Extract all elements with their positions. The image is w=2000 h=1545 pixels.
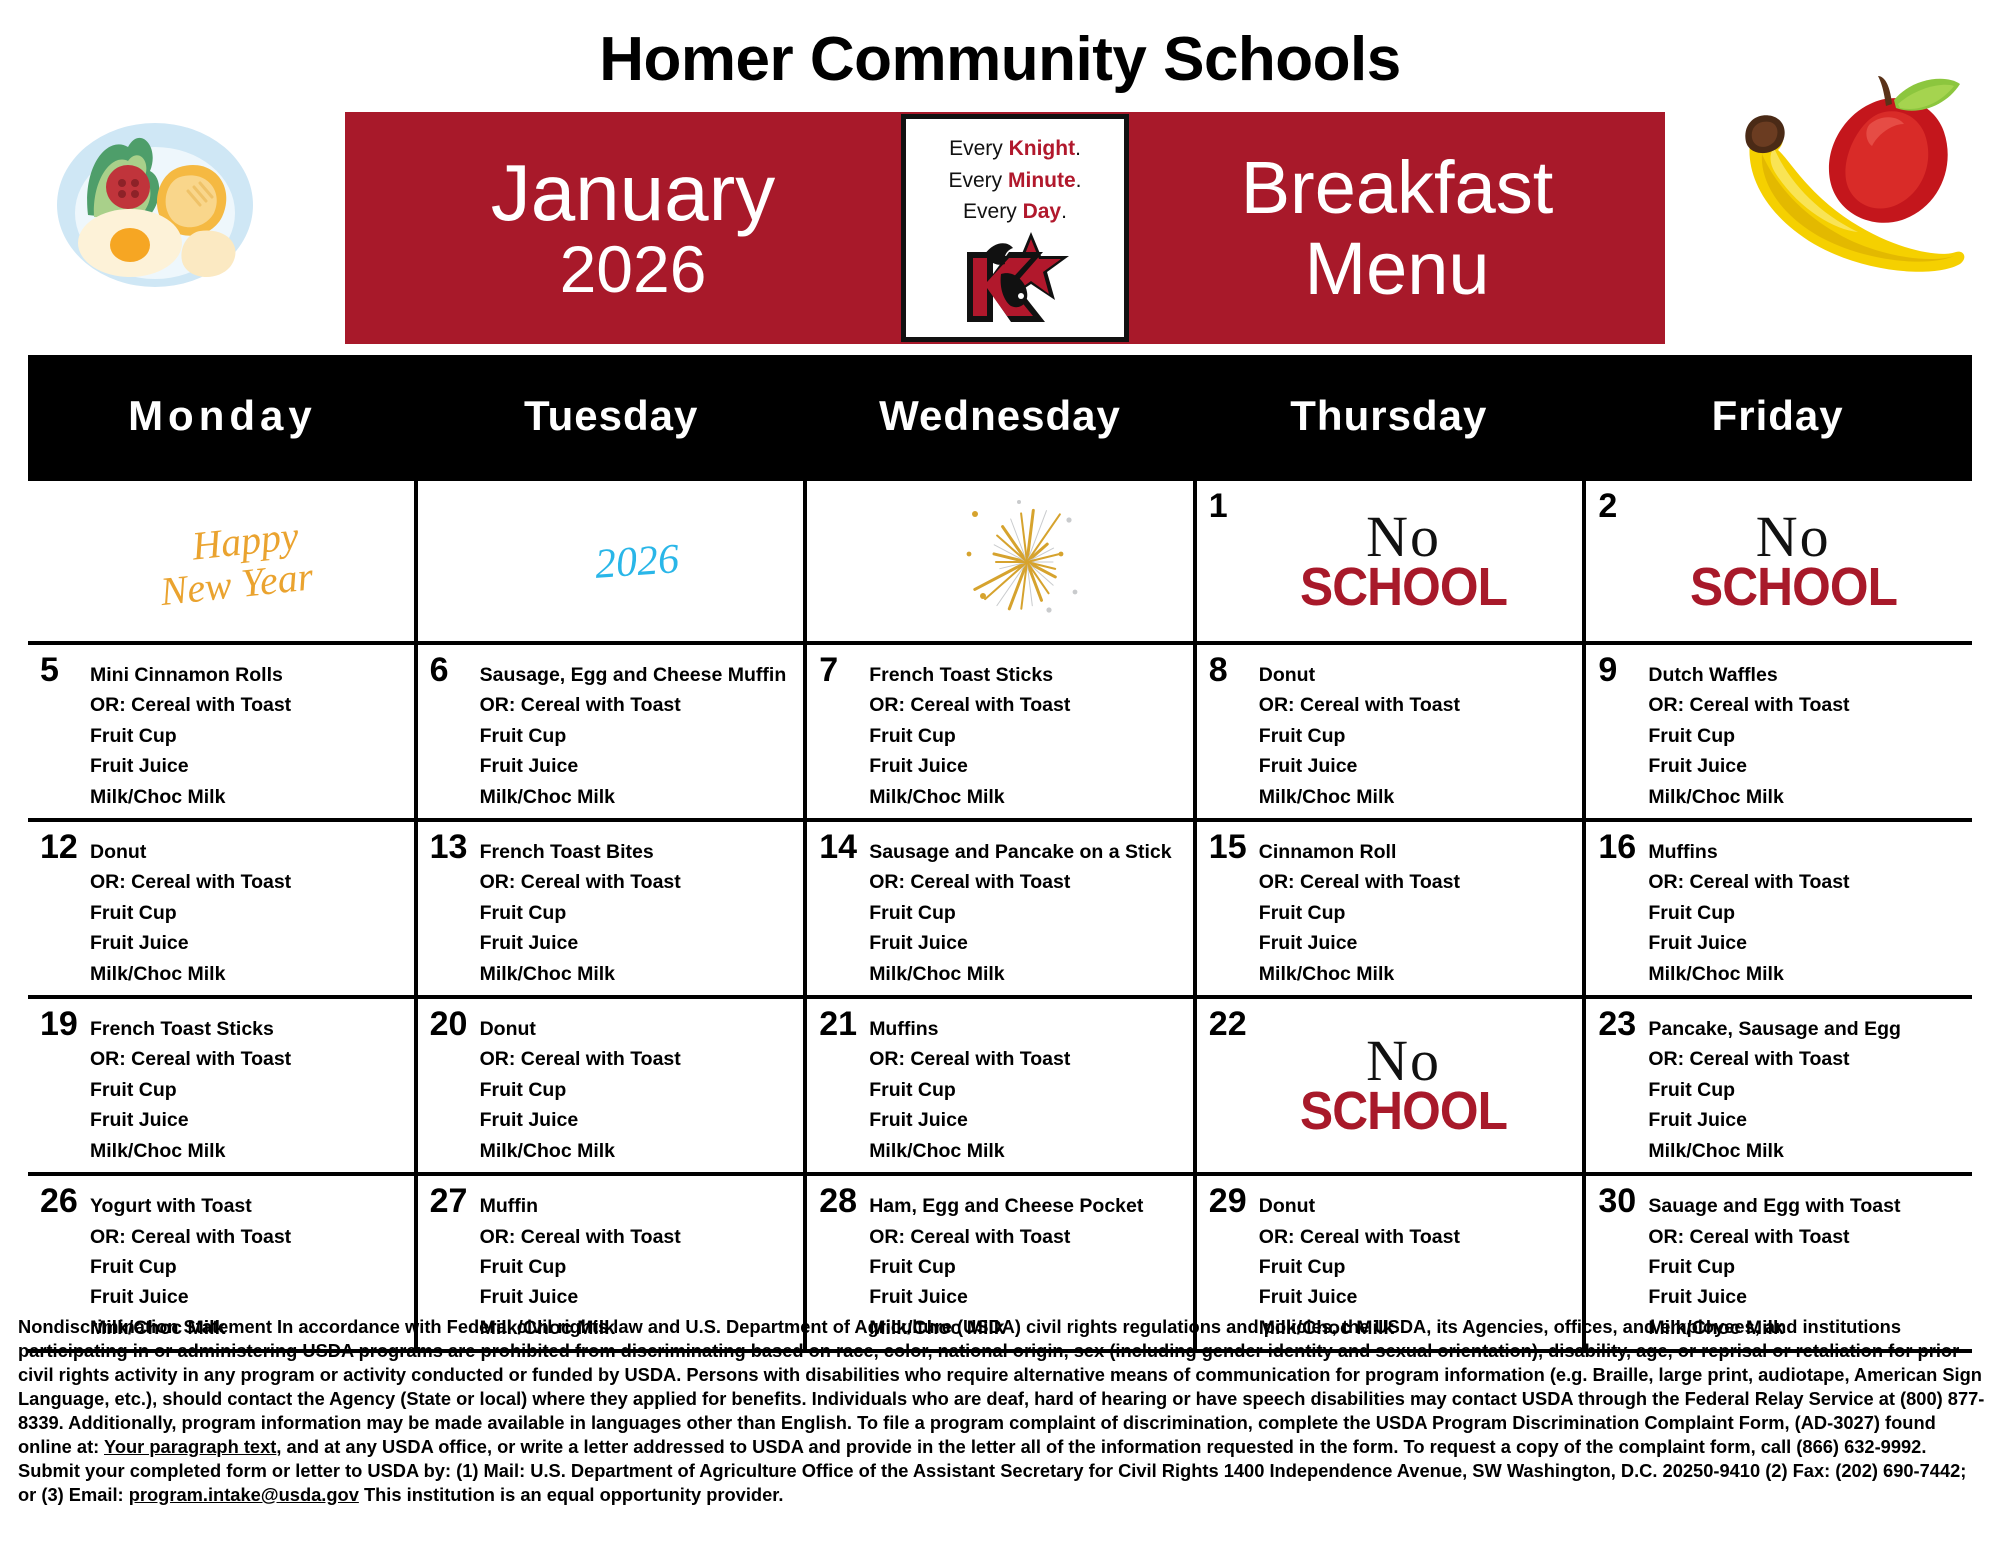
calendar-cell-menu: 15Cinnamon RollOR: Cereal with ToastFrui… <box>1197 822 1583 995</box>
footer-text-part3: This institution is an equal opportunity… <box>359 1484 784 1505</box>
menu-side: OR: Cereal with Toast <box>90 1222 408 1252</box>
day-number: 6 <box>426 653 478 812</box>
day-number: 22 <box>1205 1007 1257 1166</box>
menu-item-list: French Toast BitesOR: Cereal with ToastF… <box>478 830 798 989</box>
menu-side: OR: Cereal with Toast <box>1259 867 1577 897</box>
logo-line2-suffix: . <box>1076 169 1082 192</box>
logo-line2-prefix: Every <box>948 169 1008 192</box>
calendar-cell-decoration: 2026 <box>418 481 804 641</box>
menu-side: OR: Cereal with Toast <box>1259 690 1577 720</box>
menu-item-list: Mini Cinnamon RollsOR: Cereal with Toast… <box>88 653 408 812</box>
no-school-line2: SCHOOL <box>1300 1086 1507 1137</box>
menu-entree: Sausage and Pancake on a Stick <box>869 837 1187 867</box>
calendar-cell-menu: 12DonutOR: Cereal with ToastFruit CupFru… <box>28 822 414 995</box>
no-school-badge: NoSCHOOL <box>1257 1007 1577 1166</box>
calendar-cell-menu: 19French Toast SticksOR: Cereal with Toa… <box>28 999 414 1172</box>
day-number: 14 <box>815 830 867 989</box>
menu-side: Fruit Cup <box>869 1075 1187 1105</box>
menu-side: Fruit Cup <box>869 898 1187 928</box>
menu-side: Fruit Juice <box>480 751 798 781</box>
weekday-header-thursday: Thursday <box>1194 392 1583 440</box>
no-school-badge: NoSCHOOL <box>1646 489 1966 635</box>
day-number: 13 <box>426 830 478 989</box>
menu-entree: Muffins <box>869 1014 1187 1044</box>
weekday-header-friday: Friday <box>1583 392 1972 440</box>
calendar-cell-no-school: 1NoSCHOOL <box>1197 481 1583 641</box>
banner-meal-line1: Breakfast <box>1129 147 1665 228</box>
menu-side: OR: Cereal with Toast <box>90 1044 408 1074</box>
menu-side: Fruit Cup <box>1648 898 1966 928</box>
menu-item-list: Pancake, Sausage and EggOR: Cereal with … <box>1646 1007 1966 1166</box>
school-logo: Every Knight. Every Minute. Every Day. <box>901 114 1129 342</box>
day-number: 2 <box>1594 489 1646 635</box>
menu-item-list: Sausage, Egg and Cheese MuffinOR: Cereal… <box>478 653 798 812</box>
menu-side: Fruit Cup <box>480 721 798 751</box>
calendar-week-row: 19French Toast SticksOR: Cereal with Toa… <box>28 999 1972 1176</box>
logo-tagline-3: Every Day. <box>963 196 1067 228</box>
day-number: 16 <box>1594 830 1646 989</box>
menu-side: Milk/Choc Milk <box>480 1136 798 1166</box>
banner-month-year: January 2026 <box>345 151 901 304</box>
menu-side: Fruit Juice <box>1259 1282 1577 1312</box>
menu-item-list: DonutOR: Cereal with ToastFruit CupFruit… <box>478 1007 798 1166</box>
menu-entree: Donut <box>480 1014 798 1044</box>
menu-item-list: French Toast SticksOR: Cereal with Toast… <box>867 653 1187 812</box>
menu-side: Fruit Cup <box>1648 1252 1966 1282</box>
logo-line3-accent: Day <box>1023 200 1062 223</box>
menu-side: OR: Cereal with Toast <box>1648 1044 1966 1074</box>
menu-side: Milk/Choc Milk <box>1259 782 1577 812</box>
calendar-cell-menu: 20DonutOR: Cereal with ToastFruit CupFru… <box>418 999 804 1172</box>
menu-entree: French Toast Sticks <box>90 1014 408 1044</box>
menu-item-list: Dutch WafflesOR: Cereal with ToastFruit … <box>1646 653 1966 812</box>
menu-side: OR: Cereal with Toast <box>480 867 798 897</box>
menu-side: OR: Cereal with Toast <box>480 1222 798 1252</box>
menu-side: Milk/Choc Milk <box>1648 1136 1966 1166</box>
day-number: 5 <box>36 653 88 812</box>
menu-item-list: Sausage and Pancake on a StickOR: Cereal… <box>867 830 1187 989</box>
menu-entree: French Toast Bites <box>480 837 798 867</box>
day-number: 7 <box>815 653 867 812</box>
menu-side: Milk/Choc Milk <box>869 959 1187 989</box>
menu-side: Fruit Cup <box>90 1075 408 1105</box>
menu-entree: Cinnamon Roll <box>1259 837 1577 867</box>
menu-calendar: Monday Tuesday Wednesday Thursday Friday… <box>28 355 1972 1353</box>
menu-item-list: Cinnamon RollOR: Cereal with ToastFruit … <box>1257 830 1577 989</box>
fireworks-icon <box>867 489 1187 635</box>
logo-line3-suffix: . <box>1061 200 1067 223</box>
logo-line1-suffix: . <box>1075 137 1081 160</box>
menu-entree: Donut <box>1259 660 1577 690</box>
menu-side: OR: Cereal with Toast <box>869 867 1187 897</box>
menu-side: Milk/Choc Milk <box>1648 959 1966 989</box>
menu-side: Milk/Choc Milk <box>90 959 408 989</box>
day-number: 8 <box>1205 653 1257 812</box>
menu-side: OR: Cereal with Toast <box>480 690 798 720</box>
menu-entree: Donut <box>90 837 408 867</box>
menu-side: Fruit Juice <box>480 1282 798 1312</box>
menu-entree: Muffins <box>1648 837 1966 867</box>
menu-side: Fruit Juice <box>1259 751 1577 781</box>
menu-side: OR: Cereal with Toast <box>869 1044 1187 1074</box>
banner-year-label: 2026 <box>365 235 901 304</box>
menu-side: Fruit Juice <box>869 928 1187 958</box>
menu-side: Milk/Choc Milk <box>90 1136 408 1166</box>
no-school-line1: No <box>1756 511 1831 562</box>
menu-entree: Dutch Waffles <box>1648 660 1966 690</box>
menu-side: Fruit Juice <box>480 1105 798 1135</box>
menu-side: Fruit Cup <box>90 898 408 928</box>
menu-side: Fruit Juice <box>1648 1282 1966 1312</box>
menu-entree: Sausage, Egg and Cheese Muffin <box>480 660 798 690</box>
day-number: 1 <box>1205 489 1257 635</box>
calendar-cell-menu: 7French Toast SticksOR: Cereal with Toas… <box>807 645 1193 818</box>
page-header: Homer Community Schools January 2026 Eve… <box>0 0 2000 360</box>
logo-line1-prefix: Every <box>949 137 1009 160</box>
menu-side: Fruit Juice <box>869 751 1187 781</box>
menu-entree: Ham, Egg and Cheese Pocket <box>869 1191 1187 1221</box>
banner-month-label: January <box>365 151 901 235</box>
calendar-week-row: 5Mini Cinnamon RollsOR: Cereal with Toas… <box>28 645 1972 822</box>
day-number: 23 <box>1594 1007 1646 1166</box>
menu-item-list: MuffinsOR: Cereal with ToastFruit CupFru… <box>867 1007 1187 1166</box>
menu-side: Fruit Cup <box>480 898 798 928</box>
knight-k-logo-icon <box>949 230 1081 326</box>
calendar-cell-menu: 16MuffinsOR: Cereal with ToastFruit CupF… <box>1586 822 1972 995</box>
menu-side: Milk/Choc Milk <box>869 1136 1187 1166</box>
day-number: 20 <box>426 1007 478 1166</box>
menu-side: Fruit Juice <box>1648 1105 1966 1135</box>
menu-entree: Pancake, Sausage and Egg <box>1648 1014 1966 1044</box>
menu-side: Fruit Juice <box>1648 928 1966 958</box>
menu-side: Fruit Cup <box>1648 1075 1966 1105</box>
calendar-cell-menu: 8DonutOR: Cereal with ToastFruit CupFrui… <box>1197 645 1583 818</box>
menu-entree: Sauage and Egg with Toast <box>1648 1191 1966 1221</box>
year-script-art: 2026 <box>478 489 798 635</box>
nondiscrimination-statement: Nondiscrimination Statement In accordanc… <box>18 1315 1986 1507</box>
calendar-week-row: HappyNew Year20261NoSCHOOL2NoSCHOOL <box>28 477 1972 645</box>
menu-side: Fruit Juice <box>869 1282 1187 1312</box>
page-title: Homer Community Schools <box>0 24 2000 95</box>
menu-side: Milk/Choc Milk <box>869 782 1187 812</box>
menu-side: OR: Cereal with Toast <box>1259 1222 1577 1252</box>
calendar-cell-menu: 23Pancake, Sausage and EggOR: Cereal wit… <box>1586 999 1972 1172</box>
menu-side: Milk/Choc Milk <box>480 959 798 989</box>
menu-side: Fruit Juice <box>1259 928 1577 958</box>
day-number: 12 <box>36 830 88 989</box>
menu-entree: Donut <box>1259 1191 1577 1221</box>
menu-entree: Yogurt with Toast <box>90 1191 408 1221</box>
calendar-cell-menu: 21MuffinsOR: Cereal with ToastFruit CupF… <box>807 999 1193 1172</box>
menu-side: Fruit Juice <box>90 751 408 781</box>
weekday-header-monday: Monday <box>28 392 417 440</box>
banner-meal-line2: Menu <box>1129 228 1665 309</box>
no-school-line1: No <box>1366 1035 1441 1086</box>
calendar-cell-decoration: HappyNew Year <box>28 481 414 641</box>
menu-side: Fruit Juice <box>90 928 408 958</box>
title-banner: January 2026 Every Knight. Every Minute.… <box>345 112 1665 344</box>
menu-side: OR: Cereal with Toast <box>90 690 408 720</box>
weekday-header-tuesday: Tuesday <box>417 392 806 440</box>
menu-side: Fruit Cup <box>1259 1252 1577 1282</box>
menu-side: OR: Cereal with Toast <box>869 690 1187 720</box>
menu-side: Fruit Juice <box>1648 751 1966 781</box>
menu-entree: Muffin <box>480 1191 798 1221</box>
menu-side: Milk/Choc Milk <box>1648 782 1966 812</box>
calendar-cell-menu: 13French Toast BitesOR: Cereal with Toas… <box>418 822 804 995</box>
footer-link-email[interactable]: program.intake@usda.gov <box>129 1484 359 1505</box>
menu-side: Fruit Cup <box>90 721 408 751</box>
calendar-cell-menu: 14Sausage and Pancake on a StickOR: Cere… <box>807 822 1193 995</box>
menu-side: OR: Cereal with Toast <box>1648 867 1966 897</box>
menu-side: Fruit Cup <box>1259 721 1577 751</box>
day-number: 21 <box>815 1007 867 1166</box>
menu-side: Fruit Juice <box>90 1282 408 1312</box>
menu-side: Milk/Choc Milk <box>1259 959 1577 989</box>
menu-side: Fruit Cup <box>480 1252 798 1282</box>
menu-side: Fruit Cup <box>869 721 1187 751</box>
footer-link-paragraph-text[interactable]: Your paragraph text <box>104 1436 276 1457</box>
breakfast-plate-icon <box>30 95 280 290</box>
logo-line3-prefix: Every <box>963 200 1023 223</box>
menu-side: Fruit Cup <box>1648 721 1966 751</box>
menu-item-list: DonutOR: Cereal with ToastFruit CupFruit… <box>1257 653 1577 812</box>
menu-side: Fruit Cup <box>1259 898 1577 928</box>
menu-side: OR: Cereal with Toast <box>869 1222 1187 1252</box>
menu-entree: French Toast Sticks <box>869 660 1187 690</box>
logo-tagline-1: Every Knight. <box>949 133 1081 165</box>
day-number: 9 <box>1594 653 1646 812</box>
menu-side: Fruit Juice <box>480 928 798 958</box>
logo-tagline-2: Every Minute. <box>948 165 1081 197</box>
menu-item-list: MuffinsOR: Cereal with ToastFruit CupFru… <box>1646 830 1966 989</box>
menu-item-list: DonutOR: Cereal with ToastFruit CupFruit… <box>88 830 408 989</box>
menu-side: OR: Cereal with Toast <box>90 867 408 897</box>
menu-side: Milk/Choc Milk <box>480 782 798 812</box>
menu-side: Fruit Cup <box>480 1075 798 1105</box>
menu-side: Fruit Cup <box>869 1252 1187 1282</box>
calendar-week-row: 12DonutOR: Cereal with ToastFruit CupFru… <box>28 822 1972 999</box>
no-school-line2: SCHOOL <box>1300 562 1507 613</box>
no-school-badge: NoSCHOOL <box>1257 489 1577 635</box>
logo-line2-accent: Minute <box>1008 169 1076 192</box>
banner-meal-type: Breakfast Menu <box>1129 147 1665 310</box>
weekday-header-wednesday: Wednesday <box>806 392 1195 440</box>
menu-entree: Mini Cinnamon Rolls <box>90 660 408 690</box>
no-school-line2: SCHOOL <box>1690 562 1897 613</box>
happy-new-year-art: HappyNew Year <box>88 489 408 635</box>
calendar-cell-menu: 5Mini Cinnamon RollsOR: Cereal with Toas… <box>28 645 414 818</box>
calendar-cell-decoration <box>807 481 1193 641</box>
day-number: 19 <box>36 1007 88 1166</box>
menu-side: Fruit Juice <box>90 1105 408 1135</box>
no-school-line1: No <box>1366 511 1441 562</box>
banana-apple-icon <box>1702 62 1982 287</box>
menu-side: Milk/Choc Milk <box>90 782 408 812</box>
menu-item-list: French Toast SticksOR: Cereal with Toast… <box>88 1007 408 1166</box>
weekday-header-row: Monday Tuesday Wednesday Thursday Friday <box>28 355 1972 477</box>
day-number: 15 <box>1205 830 1257 989</box>
calendar-cell-no-school: 22NoSCHOOL <box>1197 999 1583 1172</box>
menu-side: OR: Cereal with Toast <box>1648 690 1966 720</box>
menu-side: Fruit Juice <box>869 1105 1187 1135</box>
menu-side: OR: Cereal with Toast <box>480 1044 798 1074</box>
calendar-cell-no-school: 2NoSCHOOL <box>1586 481 1972 641</box>
calendar-body: HappyNew Year20261NoSCHOOL2NoSCHOOL5Mini… <box>28 477 1972 1353</box>
menu-side: OR: Cereal with Toast <box>1648 1222 1966 1252</box>
calendar-cell-menu: 6Sausage, Egg and Cheese MuffinOR: Cerea… <box>418 645 804 818</box>
logo-line1-accent: Knight <box>1009 137 1075 160</box>
calendar-cell-menu: 9Dutch WafflesOR: Cereal with ToastFruit… <box>1586 645 1972 818</box>
menu-side: Fruit Cup <box>90 1252 408 1282</box>
